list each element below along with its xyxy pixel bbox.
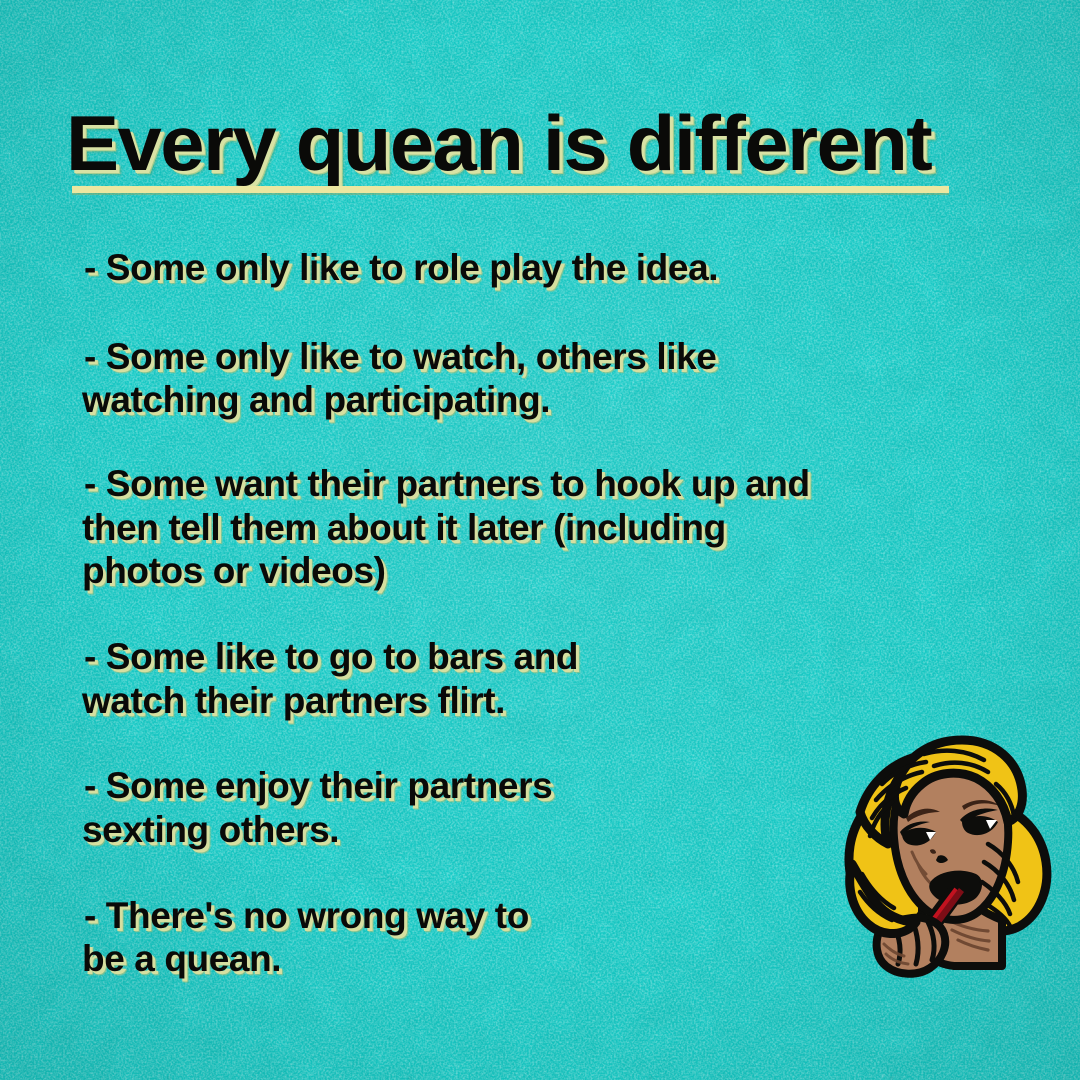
title-underline — [72, 186, 949, 193]
bullet-line: - Some want their partners to hook up an… — [84, 462, 984, 506]
page-title: Every quean is different — [66, 104, 984, 182]
list-item-bars: - Some like to go to bars and watch thei… — [84, 635, 984, 722]
title-block: Every quean is different — [66, 104, 966, 182]
retro-pop-art-woman-icon — [826, 714, 1068, 986]
list-item-role-play: - Some only like to role play the idea. — [84, 246, 984, 290]
list-item-hook-up: - Some want their partners to hook up an… — [84, 462, 984, 593]
poster-canvas: Every quean is different - Some only lik… — [0, 0, 1080, 1080]
bullet-line: then tell them about it later (including — [82, 506, 984, 550]
poster-content: Every quean is different - Some only lik… — [0, 0, 1080, 1080]
bullet-line: - Some only like to watch, others like — [84, 335, 984, 379]
bullet-line: photos or videos) — [82, 549, 984, 593]
bullet-line: - Some only like to role play the idea. — [84, 246, 984, 290]
bullet-line: watching and participating. — [82, 378, 984, 422]
list-item-watch: - Some only like to watch, others like w… — [84, 335, 984, 422]
bullet-line: - Some like to go to bars and — [84, 635, 984, 679]
